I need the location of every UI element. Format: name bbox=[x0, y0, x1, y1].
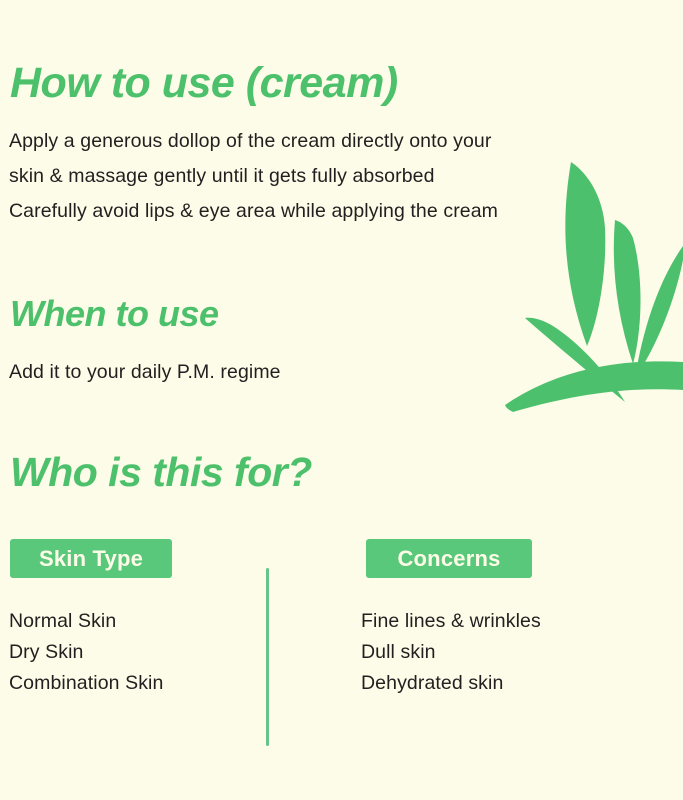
how-to-use-line: Carefully avoid lips & eye area while ap… bbox=[9, 194, 498, 229]
how-to-use-line: Apply a generous dollop of the cream dir… bbox=[9, 124, 498, 159]
when-to-use-line: Add it to your daily P.M. regime bbox=[9, 355, 281, 390]
when-to-use-heading: When to use bbox=[10, 296, 219, 332]
who-is-this-for-heading: Who is this for? bbox=[10, 452, 312, 493]
list-item: Dehydrated skin bbox=[361, 668, 541, 699]
when-to-use-body: Add it to your daily P.M. regime bbox=[9, 355, 281, 390]
how-to-use-line: skin & massage gently until it gets full… bbox=[9, 159, 498, 194]
how-to-use-heading: How to use (cream) bbox=[10, 62, 398, 105]
skin-type-badge: Skin Type bbox=[10, 539, 172, 578]
list-item: Normal Skin bbox=[9, 606, 163, 637]
list-item: Fine lines & wrinkles bbox=[361, 606, 541, 637]
how-to-use-body: Apply a generous dollop of the cream dir… bbox=[9, 124, 498, 229]
list-item: Dull skin bbox=[361, 637, 541, 668]
column-divider bbox=[266, 568, 269, 746]
concerns-list: Fine lines & wrinkles Dull skin Dehydrat… bbox=[361, 606, 541, 699]
concerns-badge: Concerns bbox=[366, 539, 532, 578]
list-item: Dry Skin bbox=[9, 637, 163, 668]
leaf-cluster-icon bbox=[483, 150, 683, 425]
list-item: Combination Skin bbox=[9, 668, 163, 699]
product-info-page: How to use (cream) Apply a generous doll… bbox=[0, 0, 683, 800]
skin-type-list: Normal Skin Dry Skin Combination Skin bbox=[9, 606, 163, 699]
